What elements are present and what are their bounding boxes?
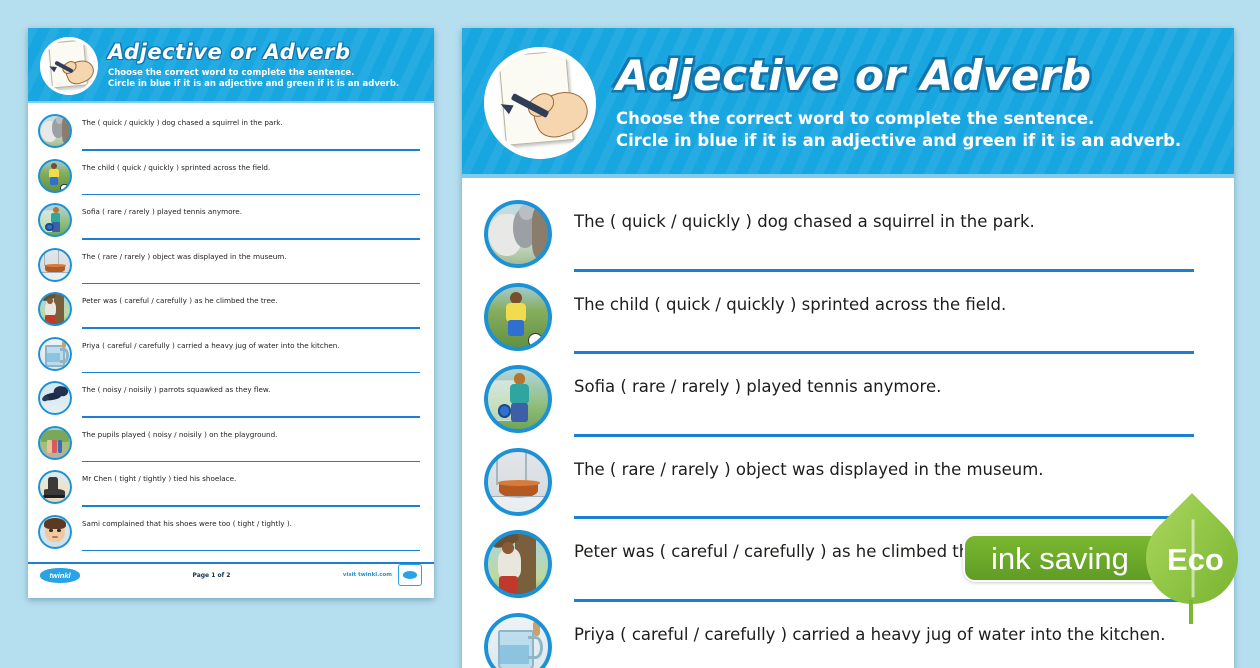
answer-line [574,434,1194,437]
squirrel-icon [484,200,552,268]
question-row[interactable]: Sofia ( rare / rarely ) played tennis an… [38,200,420,245]
boot-icon [38,470,72,504]
question-row[interactable]: Sofia ( rare / rarely ) played tennis an… [484,361,1194,444]
answer-line [574,351,1194,354]
answer-line [82,461,420,463]
answer-line [574,599,1194,602]
question-row[interactable]: Priya ( careful / carefully ) carried a … [484,609,1194,668]
twinkl-logo: twinkl [40,568,80,583]
question-row[interactable]: The ( noisy / noisily ) parrots squawked… [38,378,420,423]
tennis-player-icon [484,365,552,433]
worksheet-thumbnail-left[interactable]: Adjective or Adverb Choose the correct w… [28,28,434,598]
answer-line [82,283,420,285]
question-row[interactable]: Peter was ( careful / carefully ) as he … [38,289,420,334]
question-row[interactable]: The ( quick / quickly ) dog chased a squ… [484,196,1194,279]
question-row[interactable]: The child ( quick / quickly ) sprinted a… [484,279,1194,362]
question-row[interactable]: The ( quick / quickly ) dog chased a squ… [38,111,420,156]
eco-label: ink saving [991,543,1129,574]
tree-climbing-icon [484,530,552,598]
tennis-player-icon [38,203,72,237]
question-text: Sofia ( rare / rarely ) played tennis an… [82,207,420,216]
leaf-stem [1189,600,1193,624]
answer-line [82,372,420,374]
question-row[interactable]: The pupils played ( noisy / noisily ) on… [38,423,420,468]
ink-saving-eco-badge: ink saving Eco [963,534,1260,582]
water-jug-icon [484,613,552,668]
worksheet-banner: Adjective or Adverb Choose the correct w… [28,28,434,103]
question-text: Priya ( careful / carefully ) carried a … [574,625,1194,644]
page-title: Adjective or Adverb [616,55,1181,97]
hand-writing-icon [40,37,98,95]
question-text: Sofia ( rare / rarely ) played tennis an… [574,377,1194,396]
question-text: The ( rare / rarely ) object was display… [82,252,420,261]
eco-leaf-label: Eco [1167,544,1224,575]
question-text: Peter was ( careful / carefully ) as he … [82,296,420,305]
visit-link[interactable]: visit twinkl.com [343,572,392,578]
squirrel-icon [38,114,72,148]
question-text: Sami complained that his shoes were too … [82,519,420,528]
question-row[interactable]: The ( rare / rarely ) object was display… [38,245,420,290]
child-football-icon [484,283,552,351]
answer-line [82,238,420,240]
tree-climbing-icon [38,292,72,326]
answer-line [82,550,420,552]
instruction-line-1: Choose the correct word to complete the … [108,68,399,79]
question-text: The ( noisy / noisily ) parrots squawked… [82,385,420,394]
hand-writing-icon [484,47,596,159]
page-number: Page 1 of 2 [80,572,343,579]
instruction-line-1: Choose the correct word to complete the … [616,108,1181,129]
answer-line [574,269,1194,272]
question-text: Mr Chen ( tight / tightly ) tied his sho… [82,474,420,483]
answer-line [574,516,1194,519]
question-list: The ( quick / quickly ) dog chased a squ… [462,178,1234,668]
answer-line [82,149,420,151]
instruction-line-2: Circle in blue if it is an adjective and… [616,130,1181,151]
question-text: The child ( quick / quickly ) sprinted a… [82,163,420,172]
parrot-icon [38,381,72,415]
question-text: The pupils played ( noisy / noisily ) on… [82,430,420,439]
question-text: Priya ( careful / carefully ) carried a … [82,341,420,350]
question-list: The ( quick / quickly ) dog chased a squ… [28,103,434,556]
question-row[interactable]: The ( rare / rarely ) object was display… [484,444,1194,527]
answer-line [82,327,420,329]
twinkl-logo-text: twinkl [49,571,70,580]
museum-vase-icon [38,248,72,282]
museum-vase-icon [484,448,552,516]
answer-line [82,416,420,418]
worksheet-footer: twinkl Page 1 of 2 visit twinkl.com [28,562,434,588]
water-jug-icon [38,337,72,371]
answer-line [82,194,420,196]
page-title: Adjective or Adverb [108,42,399,63]
boy-face-icon [38,515,72,549]
question-row[interactable]: Priya ( careful / carefully ) carried a … [38,334,420,379]
question-text: The ( quick / quickly ) dog chased a squ… [82,118,420,127]
question-row[interactable]: The child ( quick / quickly ) sprinted a… [38,156,420,201]
playground-icon [38,426,72,460]
twinkl-badge-icon [398,564,422,586]
instruction-line-2: Circle in blue if it is an adjective and… [108,79,399,90]
answer-line [82,505,420,507]
worksheet-banner-large: Adjective or Adverb Choose the correct w… [462,28,1234,178]
question-row[interactable]: Mr Chen ( tight / tightly ) tied his sho… [38,467,420,512]
question-text: The child ( quick / quickly ) sprinted a… [574,295,1194,314]
question-row[interactable]: Sami complained that his shoes were too … [38,512,420,557]
question-text: The ( rare / rarely ) object was display… [574,460,1194,479]
child-football-icon [38,159,72,193]
question-text: The ( quick / quickly ) dog chased a squ… [574,212,1194,231]
